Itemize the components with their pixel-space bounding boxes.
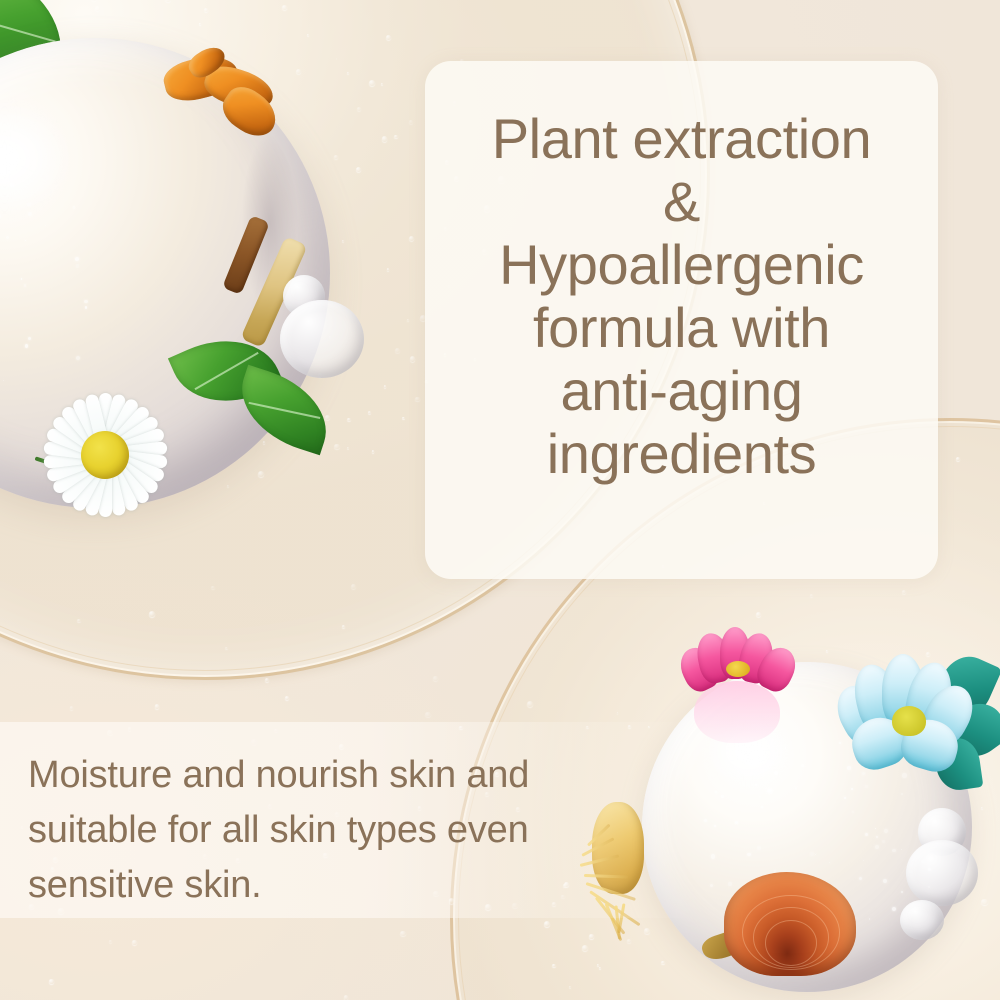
sphere-bubble (829, 862, 830, 863)
sphere-bubble (785, 747, 786, 748)
sphere-bubble (85, 306, 87, 308)
blue-peony-flower (836, 650, 1000, 790)
water-droplet-blob (906, 840, 978, 906)
sphere-bubble (863, 860, 864, 861)
peony-center (726, 661, 750, 677)
sphere-bubble (876, 836, 878, 838)
sphere-bubble (875, 845, 879, 849)
headline-line: Hypoallergenic (435, 233, 928, 296)
sphere-bubble (28, 337, 31, 340)
sphere-bubble (0, 215, 1, 218)
leaf-vein (248, 402, 320, 419)
sphere-bubble (45, 225, 46, 226)
sphere-bubble (84, 300, 87, 303)
sphere-bubble (901, 891, 903, 893)
pink-peony-flower (680, 625, 800, 717)
sphere-bubble (801, 764, 803, 766)
sphere-bubble (892, 907, 896, 911)
headline-card: Plant extraction&Hypoallergenicformula w… (425, 61, 938, 579)
sphere-bubble (901, 793, 903, 795)
sphere-bubble (710, 884, 713, 887)
peony-center (892, 706, 926, 736)
sphere-bubble (884, 829, 888, 833)
sphere-bubble (882, 840, 884, 842)
caption-line: suitable for all skin types even (28, 803, 604, 858)
headline-line: & (435, 170, 928, 233)
sphere-bubble (76, 356, 80, 360)
sphere-bubble (747, 853, 751, 857)
sphere-bubble (76, 264, 79, 267)
sphere-bubble (21, 278, 22, 279)
leaf-vein (0, 18, 56, 42)
sphere-bubble (24, 284, 27, 287)
headline-text: Plant extraction&Hypoallergenicformula w… (425, 107, 938, 485)
sphere-bubble (859, 877, 862, 880)
headline-line: anti-aging (435, 359, 928, 422)
sphere-bubble (883, 879, 887, 883)
chamomile-daisy-flower (30, 380, 180, 530)
sphere-bubble (875, 828, 876, 829)
water-droplet-blob (280, 300, 364, 378)
sphere-bubble (810, 852, 814, 856)
banner-stage: Plant extraction&Hypoallergenicformula w… (0, 0, 1000, 1000)
sphere-bubble (711, 854, 715, 858)
caption-line: Moisture and nourish skin and (28, 748, 604, 803)
sphere-bubble (755, 784, 757, 786)
sphere-bubble (795, 787, 797, 789)
sphere-bubble (852, 811, 854, 813)
headline-line: ingredients (435, 422, 928, 485)
sphere-bubble (892, 849, 896, 853)
peony-under-petals (694, 681, 780, 743)
reishi-mushroom (724, 872, 856, 976)
sphere-bubble (714, 825, 716, 827)
sphere-bubble (704, 819, 707, 822)
water-droplet-blob (900, 900, 944, 940)
sphere-bubble (757, 846, 761, 850)
sphere-bubble (869, 918, 870, 919)
sphere-bubble (3, 380, 4, 381)
caption-line: sensitive skin. (28, 858, 604, 913)
sphere-bubble (10, 183, 13, 186)
sphere-bubble (25, 344, 29, 348)
headline-line: formula with (435, 296, 928, 359)
sphere-bubble (901, 849, 902, 850)
sphere-bubble (865, 833, 868, 836)
headline-line: Plant extraction (435, 107, 928, 170)
dried-orange-root (160, 48, 290, 153)
sphere-bubble (815, 854, 816, 855)
caption-text: Moisture and nourish skin andsuitable fo… (28, 748, 604, 913)
daisy-center (81, 431, 129, 479)
sphere-bubble (844, 797, 846, 799)
